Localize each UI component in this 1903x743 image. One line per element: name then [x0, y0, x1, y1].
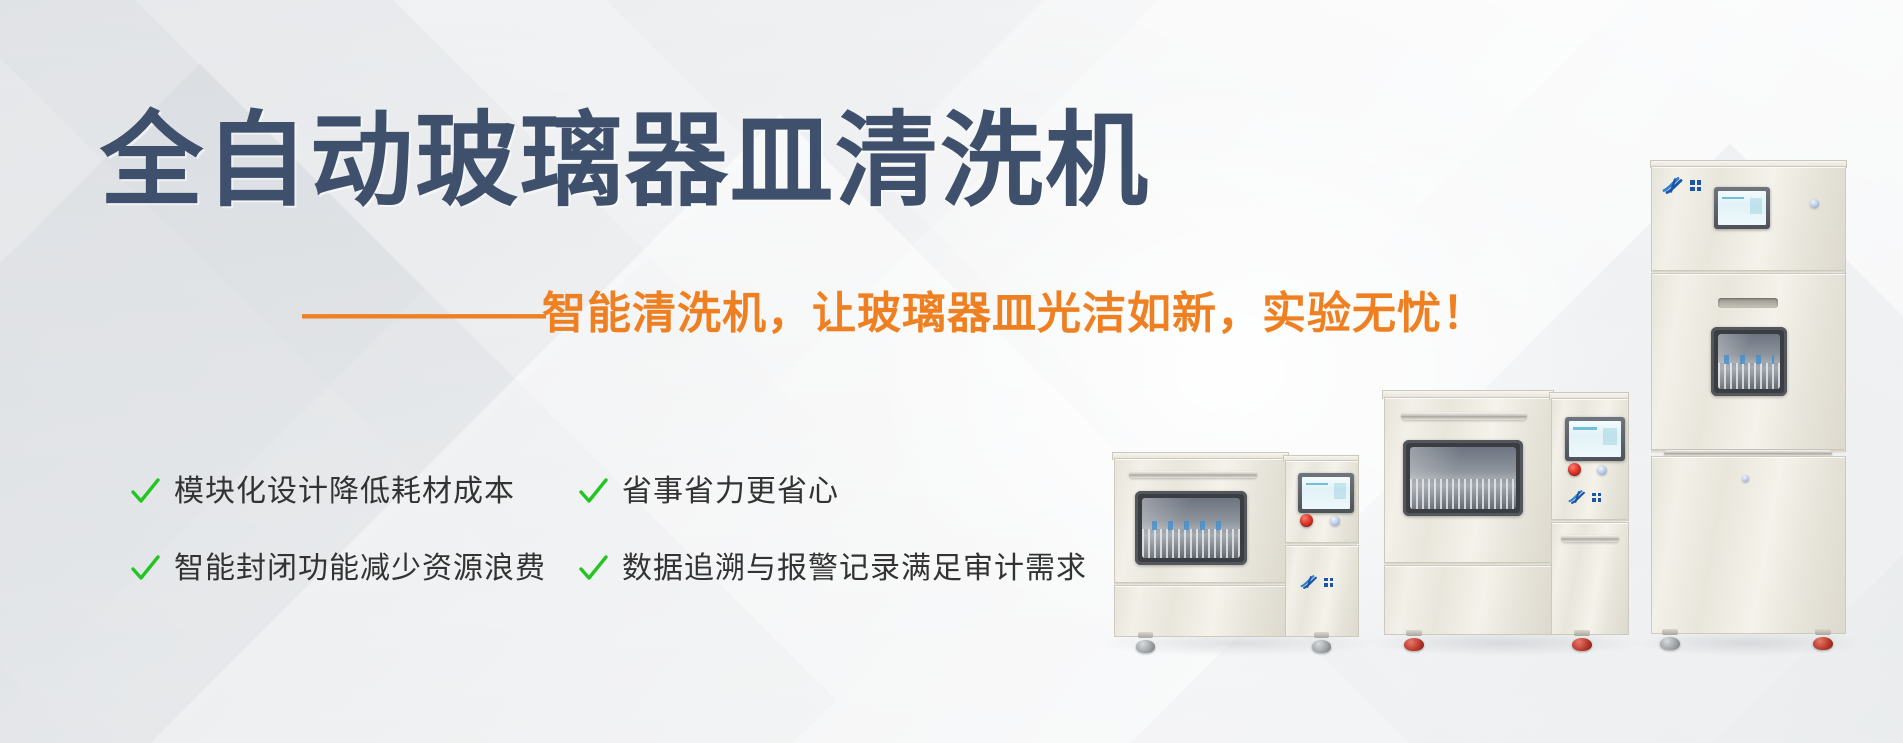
brand-squares — [1690, 180, 1701, 191]
control-panel — [1551, 398, 1629, 521]
product-banner: 全自动玻璃器皿清洗机 ——————智能清洗机，让玻璃器皿光洁如新，实验无忧！ 模… — [0, 0, 1903, 743]
touchscreen-display — [1569, 421, 1621, 457]
touchscreen-panel[interactable] — [1565, 417, 1625, 461]
touchscreen-display — [1718, 191, 1766, 225]
viewing-window — [1135, 491, 1247, 565]
touchscreen-display — [1302, 477, 1350, 509]
power-button[interactable] — [1330, 516, 1340, 526]
touchscreen-panel[interactable] — [1298, 473, 1354, 513]
product-image-tall-column-washer — [1650, 160, 1845, 642]
chamber-door — [1651, 273, 1846, 452]
window-glass — [1410, 447, 1516, 509]
glassware-rack — [1142, 529, 1240, 558]
touchscreen-panel[interactable] — [1714, 187, 1770, 229]
brand-h-mark — [1662, 176, 1686, 195]
control-panel — [1285, 460, 1359, 544]
brand-logo — [1662, 176, 1701, 195]
chamber-door — [1114, 458, 1287, 584]
power-button[interactable] — [1810, 199, 1819, 208]
lower-access-panel — [1114, 585, 1287, 637]
service-door — [1285, 545, 1359, 637]
brand-h-mark — [1300, 574, 1320, 590]
service-door — [1551, 522, 1629, 635]
brand-h-mark — [1568, 489, 1588, 505]
caster-wheel — [1312, 632, 1331, 649]
glassware-rack — [1718, 363, 1780, 389]
caster-wheel — [1813, 629, 1833, 647]
product-images — [0, 0, 1903, 743]
window-glass — [1142, 498, 1240, 558]
latch-button[interactable] — [1742, 475, 1749, 482]
viewing-window — [1711, 327, 1787, 396]
viewing-window — [1403, 440, 1523, 516]
caster-wheel — [1404, 630, 1424, 648]
brand-logo — [1568, 489, 1601, 505]
door-handle — [1561, 535, 1619, 542]
emergency-stop-button[interactable] — [1300, 514, 1313, 527]
caster-wheel — [1660, 629, 1680, 647]
lower-cabinet-door — [1651, 456, 1846, 634]
caster-wheel — [1136, 632, 1155, 649]
chamber-door — [1384, 397, 1552, 565]
glassware-rack — [1410, 479, 1516, 509]
vent-grille — [1718, 298, 1778, 308]
spray-nozzles — [1724, 355, 1774, 364]
window-glass — [1718, 334, 1780, 389]
door-handle — [1401, 412, 1527, 420]
spray-nozzles — [1152, 521, 1230, 531]
brand-squares — [1324, 578, 1333, 587]
lower-access-panel — [1384, 565, 1552, 635]
caster-wheel — [1572, 630, 1592, 648]
emergency-stop-button[interactable] — [1568, 463, 1581, 476]
power-button[interactable] — [1597, 465, 1607, 475]
door-handle — [1129, 471, 1257, 478]
control-panel — [1651, 166, 1846, 273]
product-image-freestanding-washer — [1382, 390, 1627, 642]
brand-logo — [1300, 574, 1333, 590]
product-image-undercounter-washer — [1112, 452, 1357, 642]
brand-squares — [1592, 493, 1601, 502]
